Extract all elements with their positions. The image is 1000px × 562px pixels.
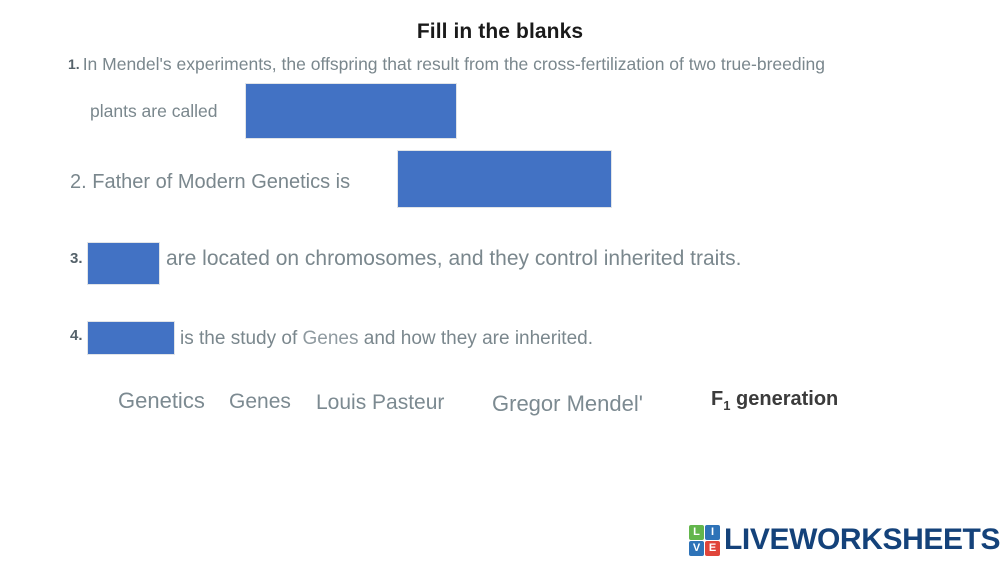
question-4-text-after: and how they are inherited.	[364, 328, 593, 349]
logo-tile-l: L	[689, 525, 704, 540]
word-bank-item-f1-generation: F1 generation	[711, 388, 838, 413]
answer-input-3[interactable]	[88, 243, 159, 284]
question-1-number: 1.	[68, 56, 80, 72]
question-1-text-line-1: In Mendel's experiments, the offspring t…	[83, 54, 825, 74]
word-bank-item-genes: Genes	[229, 390, 291, 414]
question-3-text: are located on chromosomes, and they con…	[166, 246, 741, 272]
word-bank-f1-suffix: generation	[730, 388, 838, 410]
question-1-line-2: plants are called	[90, 101, 217, 123]
question-4-text-before: is the study of	[180, 328, 297, 349]
answer-input-2[interactable]	[398, 151, 611, 207]
logo-tiles-icon: L I V E	[689, 525, 720, 556]
question-3-number: 3.	[70, 250, 83, 269]
logo-tile-v: V	[689, 541, 704, 556]
word-bank-f1-letter: F	[711, 388, 723, 410]
page-title: Fill in the blanks	[0, 20, 1000, 44]
worksheet-page: Fill in the blanks 1.In Mendel's experim…	[0, 0, 1000, 562]
word-bank-item-gregor-mendel: Gregor Mendel'	[492, 391, 643, 417]
logo-tile-i: I	[705, 525, 720, 540]
question-2-text: 2. Father of Modern Genetics is	[70, 170, 350, 195]
question-1-text-line-2: plants are called	[90, 101, 217, 121]
answer-input-4[interactable]	[88, 322, 174, 354]
logo-wordmark: LIVEWORKSHEETS	[724, 523, 1000, 557]
word-bank-item-louis-pasteur: Louis Pasteur	[316, 391, 444, 415]
liveworksheets-logo[interactable]: L I V E LIVEWORKSHEETS	[689, 521, 1000, 559]
answer-input-1[interactable]	[246, 84, 456, 138]
question-4-keyword: Genes	[303, 328, 359, 349]
word-bank: Genetics Genes Louis Pasteur Gregor Mend…	[0, 388, 1000, 428]
question-4-number: 4.	[70, 327, 83, 346]
question-4-text: is the study of Genes and how they are i…	[180, 327, 593, 351]
question-1-line-1: 1.In Mendel's experiments, the offspring…	[68, 54, 825, 76]
word-bank-item-genetics: Genetics	[118, 388, 205, 414]
logo-tile-e: E	[705, 541, 720, 556]
